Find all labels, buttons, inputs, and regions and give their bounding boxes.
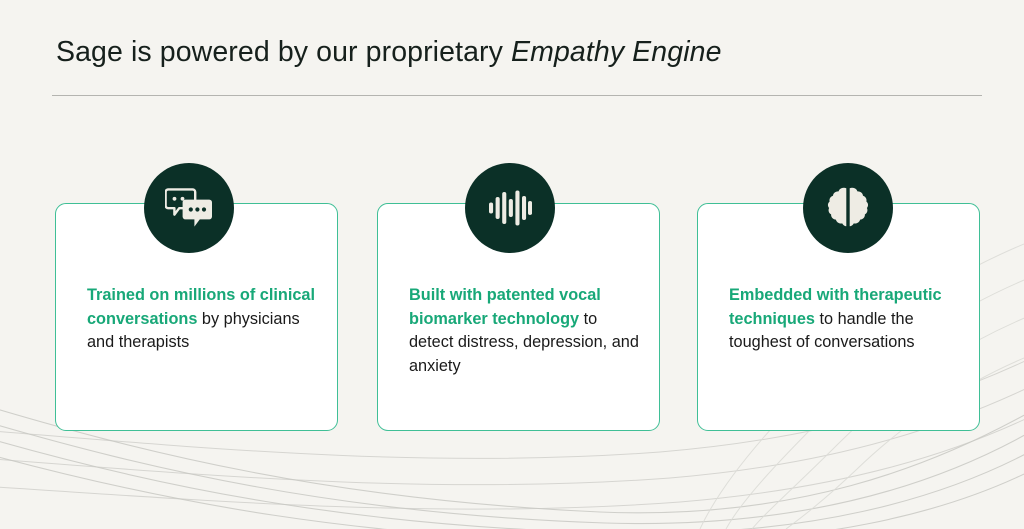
feature-card-3-text: Embedded with therapeutic techniques to … bbox=[729, 284, 961, 355]
feature-card-1-text: Trained on millions of clinical conversa… bbox=[87, 284, 319, 355]
page-title-emphasis: Empathy Engine bbox=[511, 36, 722, 68]
feature-card-2-highlight: Built with patented vocal biomarker tech… bbox=[409, 286, 601, 328]
feature-card-1-icon-badge bbox=[144, 163, 234, 253]
slide-canvas: Sage is powered by our proprietary Empat… bbox=[0, 0, 1024, 529]
feature-card-2-text: Built with patented vocal biomarker tech… bbox=[409, 284, 641, 378]
page-title: Sage is powered by our proprietary Empat… bbox=[56, 36, 722, 69]
chat-bubbles-icon bbox=[165, 187, 213, 229]
title-divider bbox=[52, 95, 982, 96]
brain-icon bbox=[827, 186, 869, 230]
feature-card-2-icon-badge bbox=[465, 163, 555, 253]
page-title-main: Sage is powered by our proprietary bbox=[56, 36, 511, 68]
voice-waveform-icon bbox=[488, 188, 532, 228]
feature-card-3-icon-badge bbox=[803, 163, 893, 253]
